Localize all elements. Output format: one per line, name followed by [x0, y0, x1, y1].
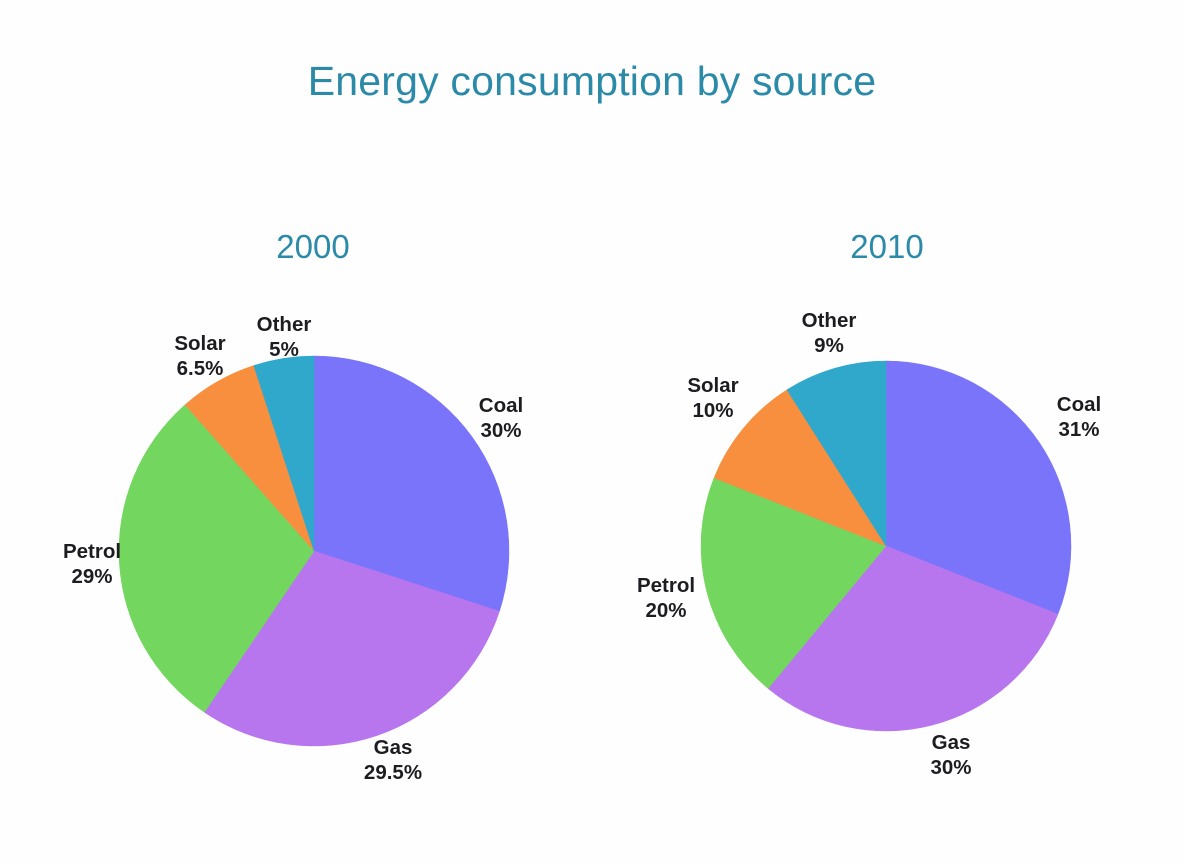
slice-label-coal-2000-name: Coal — [449, 394, 553, 419]
slice-label-petrol-2000-name: Petrol — [40, 540, 144, 565]
slice-label-coal-2000: Coal 30% — [449, 394, 553, 443]
slice-label-gas-2000-value: 29.5% — [338, 761, 448, 786]
slice-label-petrol-2010: Petrol 20% — [613, 574, 719, 623]
slice-label-petrol-2000: Petrol 29% — [40, 540, 144, 589]
slice-label-coal-2010-name: Coal — [1027, 393, 1131, 418]
slice-label-coal-2010-value: 31% — [1027, 418, 1131, 443]
slice-label-gas-2000: Gas 29.5% — [338, 736, 448, 785]
panel-title-2000: 2000 — [183, 228, 443, 266]
slice-label-solar-2000-value: 6.5% — [152, 357, 248, 382]
slice-label-other-2010: Other 9% — [778, 309, 880, 358]
slice-label-other-2010-value: 9% — [778, 334, 880, 359]
slice-label-solar-2000-name: Solar — [152, 332, 248, 357]
slice-label-solar-2010-value: 10% — [665, 399, 761, 424]
slice-label-other-2000-value: 5% — [236, 338, 332, 363]
slice-label-petrol-2010-value: 20% — [613, 599, 719, 624]
slice-label-petrol-2010-name: Petrol — [613, 574, 719, 599]
panel-title-2010: 2010 — [757, 228, 1017, 266]
slice-label-solar-2010: Solar 10% — [665, 374, 761, 423]
slice-label-solar-2000: Solar 6.5% — [152, 332, 248, 381]
slice-label-coal-2000-value: 30% — [449, 419, 553, 444]
slice-label-gas-2010: Gas 30% — [898, 731, 1004, 780]
slice-label-gas-2010-value: 30% — [898, 756, 1004, 781]
slice-label-gas-2000-name: Gas — [338, 736, 448, 761]
slice-label-petrol-2000-value: 29% — [40, 565, 144, 590]
slice-label-other-2010-name: Other — [778, 309, 880, 334]
slice-label-other-2000: Other 5% — [236, 313, 332, 362]
slice-label-solar-2010-name: Solar — [665, 374, 761, 399]
slice-label-coal-2010: Coal 31% — [1027, 393, 1131, 442]
slice-label-other-2000-name: Other — [236, 313, 332, 338]
page-title: Energy consumption by source — [0, 58, 1184, 105]
chart-figure: Energy consumption by source 2000 Coal 3… — [0, 0, 1184, 864]
slice-label-gas-2010-name: Gas — [898, 731, 1004, 756]
